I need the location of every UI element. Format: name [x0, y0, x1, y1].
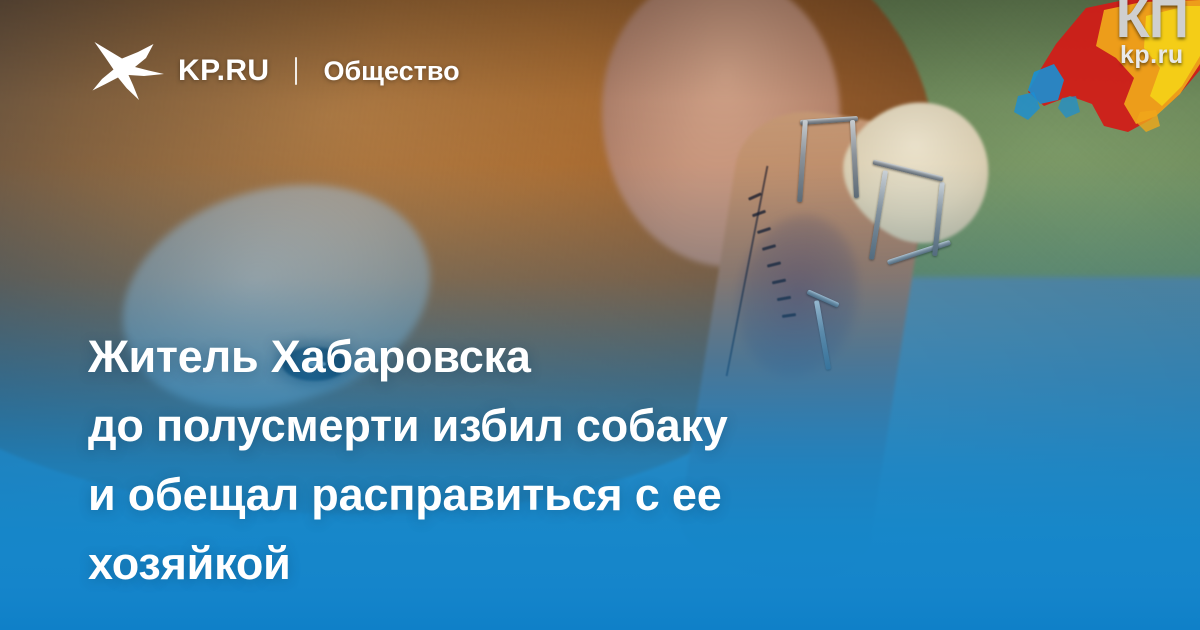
headline-line-4: хозяйкой	[88, 529, 968, 598]
brand-label[interactable]: KP.RU	[178, 54, 269, 88]
header-divider	[295, 57, 297, 85]
kp-swallow-bird-icon[interactable]	[92, 40, 166, 102]
headline-line-2: до полусмерти избил собаку	[88, 391, 968, 460]
share-card: КП kp.ru KP.RU Общество Житель Хабаровск…	[0, 0, 1200, 630]
site-header: KP.RU Общество	[92, 40, 460, 102]
headline-line-1: Житель Хабаровска	[88, 322, 968, 391]
watermark-kp-url: kp.ru	[1116, 44, 1188, 67]
watermark-kp-title: КП	[1116, 0, 1188, 44]
headline: Житель Хабаровска до полусмерти избил со…	[88, 322, 968, 598]
rubric-label[interactable]: Общество	[323, 56, 459, 87]
headline-line-3: и обещал расправиться с ее	[88, 460, 968, 529]
kp-watermark: КП kp.ru	[1000, 0, 1200, 132]
watermark-text: КП kp.ru	[1116, 0, 1188, 67]
